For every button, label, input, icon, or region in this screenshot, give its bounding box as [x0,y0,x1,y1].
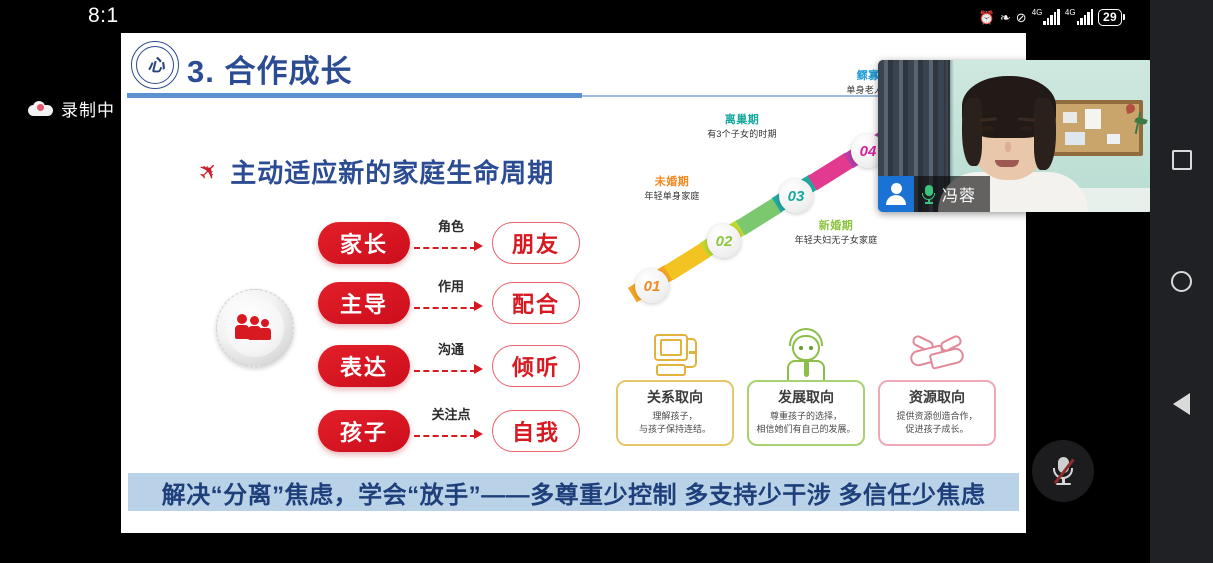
microphone-muted-icon [1052,456,1074,486]
timeline-node: 03 [779,179,813,213]
pair-relation: 关注点 [431,404,470,423]
signal-2: 4G [1065,9,1093,25]
android-navigation-bar [1150,0,1213,563]
card-line-2: 相信她们有自己的发展。 [753,423,859,436]
role-shift-diagram: 家长 角色 朋友 主导 作用 配合 表达 [206,201,606,466]
pair-arrow: 作用 [410,282,492,324]
pair-relation: 作用 [438,276,464,295]
card-line-1: 提供资源创造合作， [884,410,990,423]
status-icons: ⏰ ❧ ⊘ 4G 4G 29 [979,5,1125,29]
battery-percent: 29 [1103,10,1117,24]
pair-relation: 角色 [438,216,464,235]
card-line-2: 与孩子保持连结。 [622,423,728,436]
handshake-icon [878,318,996,380]
slide-subtitle-text: 主动适应新的家庭生命周期 [230,153,554,190]
airplane-arrow-icon: ✈ [194,157,224,187]
pair-to: 倾听 [492,345,580,387]
pair-to: 自我 [492,410,580,452]
school-emblem-icon: 心 [131,41,179,89]
stage-name: 新婚期 [771,217,901,233]
pair-row: 主导 作用 配合 [318,281,608,325]
pair-to: 配合 [492,282,580,324]
card-line-1: 理解孩子， [622,410,728,423]
timeline-stage: 离巢期 有3个子女的时期 [677,109,807,140]
participant-nametag: 冯蓉 [878,176,990,212]
battery-indicator: 29 [1098,9,1125,26]
cloud-record-icon [28,101,53,116]
stage-name: 离巢期 [677,111,807,127]
slide-subtitle: ✈ 主动适应新的家庭生命周期 [199,153,554,190]
signal-1: 4G [1032,9,1060,25]
atm-machine-icon [616,318,734,380]
slide-title: 3. 合作成长 [187,46,352,91]
pair-row: 孩子 关注点 自我 [318,409,608,453]
recording-label: 录制中 [61,96,115,121]
card-title: 关系取向 [622,387,728,407]
pair-from: 孩子 [318,410,410,452]
phone-screen: 8:1 ⏰ ❧ ⊘ 4G 4G 29 录制中 [0,0,1213,563]
orientation-card: 关系取向 理解孩子， 与孩子保持连结。 [616,318,734,446]
card-title: 发展取向 [753,387,859,407]
orientation-card: 发展取向 尊重孩子的选择， 相信她们有自己的发展。 [747,318,865,446]
timeline-node: 02 [707,224,741,258]
participant-name: 冯蓉 [942,182,976,206]
pair-row: 家长 角色 朋友 [318,221,608,265]
recording-indicator: 录制中 [28,96,115,121]
stage-sub: 年轻夫妇无子女家庭 [771,233,901,246]
status-clock: 8:1 [88,4,119,28]
pair-arrow: 角色 [410,222,492,264]
triangle-back-icon[interactable] [1169,391,1195,417]
card-line-2: 促进孩子成长。 [884,423,990,436]
pair-to: 朋友 [492,222,580,264]
timeline-node: 01 [635,269,669,303]
status-bar: 8:1 ⏰ ❧ ⊘ 4G 4G 29 [0,0,1213,34]
circle-home-icon[interactable] [1169,269,1195,295]
signal-1-label: 4G [1032,9,1043,17]
orientation-card: 资源取向 提供资源创造合作， 促进孩子成长。 [878,318,996,446]
participant-video-tile[interactable]: 冯蓉 [878,60,1153,212]
stage-name: 未婚期 [607,173,737,189]
pair-from: 表达 [318,345,410,387]
timeline-stage: 未婚期 年轻单身家庭 [607,171,737,202]
person-avatar-icon [878,176,914,212]
pair-from: 主导 [318,282,410,324]
alarm-icon: ⏰ [979,11,995,24]
family-group-icon [216,289,294,367]
pair-relation: 沟通 [438,339,464,358]
card-title: 资源取向 [884,387,990,407]
microphone-on-icon [922,185,935,203]
do-not-disturb-icon: ⊘ [1016,11,1027,24]
orientation-cards: 关系取向 理解孩子， 与孩子保持连结。 发展取向 尊重孩子的选择， 相信她们有自… [616,318,1016,468]
card-line-1: 尊重孩子的选择， [753,410,859,423]
stage-sub: 有3个子女的时期 [677,127,807,140]
pair-arrow: 关注点 [410,410,492,452]
timeline-stage: 新婚期 年轻夫妇无子女家庭 [771,215,901,246]
stage-sub: 年轻单身家庭 [607,189,737,202]
pair-row: 表达 沟通 倾听 [318,344,608,388]
slide-banner: 解决“分离”焦虑，学会“放手”——多尊重少控制 多支持少干涉 多信任少焦虑 [128,473,1019,511]
student-boy-icon [747,318,865,380]
signal-2-label: 4G [1065,9,1076,17]
pair-arrow: 沟通 [410,345,492,387]
bluetooth-icon: ❧ [1000,11,1011,24]
pair-from: 家长 [318,222,410,264]
square-recents-icon[interactable] [1169,147,1195,173]
mute-toggle-button[interactable] [1032,440,1094,502]
slide-banner-text: 解决“分离”焦虑，学会“放手”——多尊重少控制 多支持少干涉 多信任少焦虑 [162,475,986,510]
